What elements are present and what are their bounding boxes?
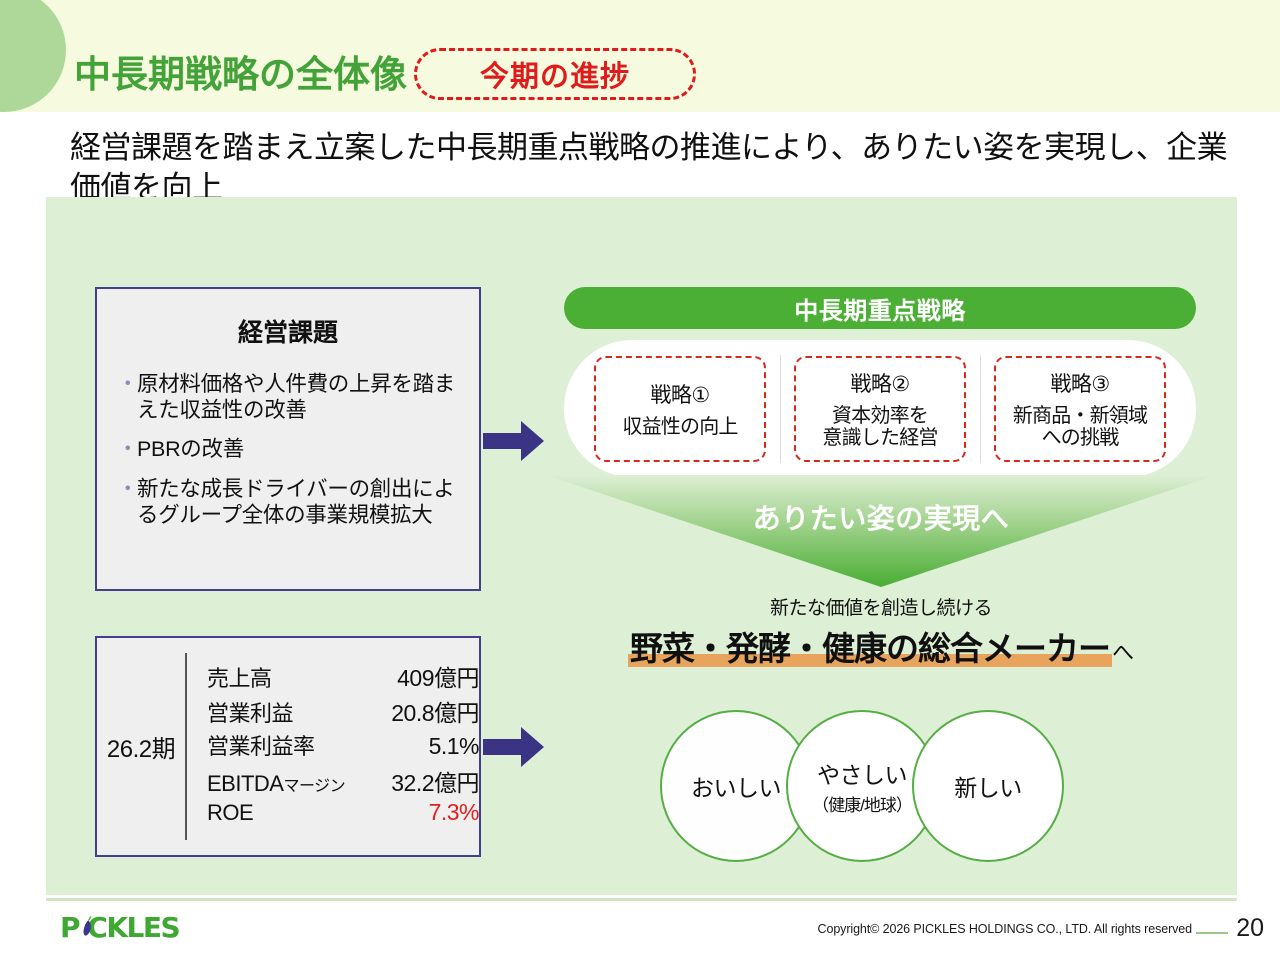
value-circle-3: 新しい [912,710,1064,862]
arrow-right-icon-top [483,419,545,463]
strategy-card-body: 資本効率を意識した経営 [822,405,937,450]
strategy-header-pill: 中長期重点戦略 [564,287,1196,329]
kpi-label: ROE [207,800,357,826]
company-logo: P CKLES [60,912,179,942]
footer-accent-rule [1196,932,1228,934]
strategy-card-container: 戦略① 収益性の向上 戦略② 資本効率を意識した経営 戦略③ 新商品・新領域への… [564,340,1196,477]
management-issues-title: 経営課題 [97,313,479,349]
table-row: ROE 7.3% [207,799,479,834]
strategy-card-title: 戦略③ [1050,368,1109,398]
divider [980,355,981,463]
strategy-card-1[interactable]: 戦略① 収益性の向上 [594,356,766,462]
logo-wordmark: P CKLES [60,911,179,944]
value-circle-sublabel: （健康/地球） [812,791,912,816]
vision-highlight: 野菜・発酵・健康の総合メーカー [628,630,1112,667]
strategy-card-3[interactable]: 戦略③ 新商品・新領域への挑戦 [994,356,1166,462]
footer-divider [46,898,1237,901]
table-row: 営業利益 20.8億円 [207,694,479,729]
kpi-label: 営業利益 [207,696,357,728]
arrow-down-label: ありたい姿の実現へ [546,497,1216,537]
kpi-label: 売上高 [207,661,357,693]
table-row: 営業利益率 5.1% [207,729,479,764]
header-decorative-circle [0,0,66,112]
table-row: EBITDAマージン 32.2億円 [207,764,479,799]
divider [780,355,781,463]
kpi-value: 20.8億円 [357,694,479,728]
list-item: 原材料価格や人件費の上昇を踏まえた収益性の改善 [119,371,461,423]
kpi-value: 7.3% [357,799,479,826]
vision-statement: 野菜・発酵・健康の総合メーカーへ [546,622,1216,670]
status-badge: 今期の進捗 [414,48,696,100]
management-issues-box: 経営課題 原材料価格や人件費の上昇を踏まえた収益性の改善 PBRの改善 新たな成… [95,287,481,591]
strategy-card-title: 戦略② [850,368,909,398]
kpi-label: 営業利益率 [207,729,357,761]
table-row: 売上高 409億円 [207,659,479,694]
strategy-card-2[interactable]: 戦略② 資本効率を意識した経営 [794,356,966,462]
strategy-card-body: 新商品・新領域への挑戦 [1013,405,1147,450]
vision-subtitle: 新たな価値を創造し続ける [546,593,1216,620]
strategy-card-body: 収益性の向上 [622,416,737,438]
page-number: 20 [1236,914,1264,943]
value-circles: おいしい やさしい （健康/地球） 新しい [634,702,1134,874]
strategy-card-title: 戦略① [650,379,709,409]
value-circle-label: おいしい [691,769,781,803]
status-badge-label: 今期の進捗 [480,53,630,95]
vision-tail: へ [1112,640,1134,665]
main-panel: 経営課題 原材料価格や人件費の上昇を踏まえた収益性の改善 PBRの改善 新たな成… [46,197,1237,895]
eggplant-icon [82,914,93,937]
page-title: 中長期戦略の全体像 [74,44,407,98]
value-circle-label: 新しい [954,769,1022,803]
copyright-text: Copyright© 2026 PICKLES HOLDINGS CO., LT… [818,922,1192,936]
value-circle-label: やさしい [817,756,907,790]
slide-root: 中長期戦略の全体像 今期の進捗 経営課題を踏まえ立案した中長期重点戦略の推進によ… [0,0,1280,960]
list-item: PBRの改善 [119,436,461,462]
list-item: 新たな成長ドライバーの創出によるグループ全体の事業規模拡大 [119,476,461,528]
arrow-right-icon-bottom [483,725,545,769]
management-issues-list: 原材料価格や人件費の上昇を踏まえた収益性の改善 PBRの改善 新たな成長ドライバ… [97,371,479,528]
strategy-header-label: 中長期重点戦略 [794,291,966,326]
kpi-value: 32.2億円 [357,764,479,798]
kpi-value: 5.1% [357,733,479,760]
kpi-value: 409億円 [357,659,479,693]
kpi-period-label: 26.2期 [97,729,185,764]
kpi-label: EBITDAマージン [207,771,357,797]
kpi-table: 売上高 409億円 営業利益 20.8億円 営業利益率 5.1% EBITDAマ… [185,653,479,840]
kpi-summary-box: 26.2期 売上高 409億円 営業利益 20.8億円 営業利益率 5.1% [95,636,481,857]
